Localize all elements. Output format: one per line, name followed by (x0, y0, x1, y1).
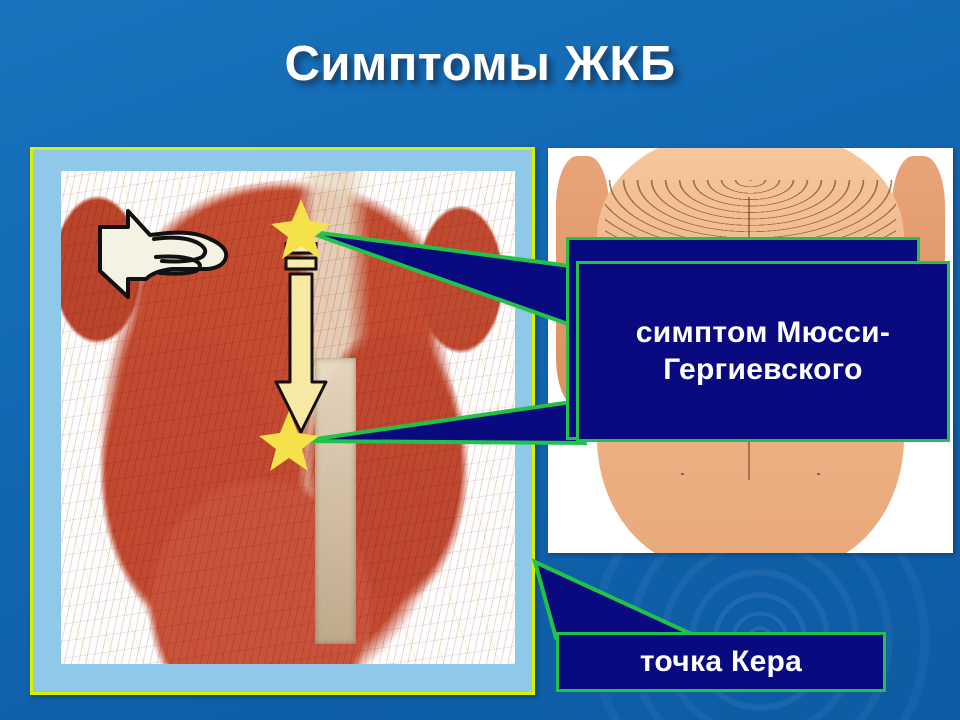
page-title: Симптомы ЖКБ (0, 36, 960, 92)
slide-canvas: Симптомы ЖКБ (0, 0, 960, 720)
callout-kera-point[interactable]: точка Кера (556, 632, 886, 692)
star-marker-kera (258, 410, 320, 472)
pointer-tail-kera (535, 562, 700, 638)
down-arrow-icon (272, 242, 330, 437)
star-marker-mussi (270, 198, 332, 260)
callout-mussi-georgievsky[interactable]: симптом Мюсси-Гергиевского (576, 261, 950, 442)
pointing-hand-icon (98, 205, 248, 305)
pelvis-lines (629, 432, 872, 537)
